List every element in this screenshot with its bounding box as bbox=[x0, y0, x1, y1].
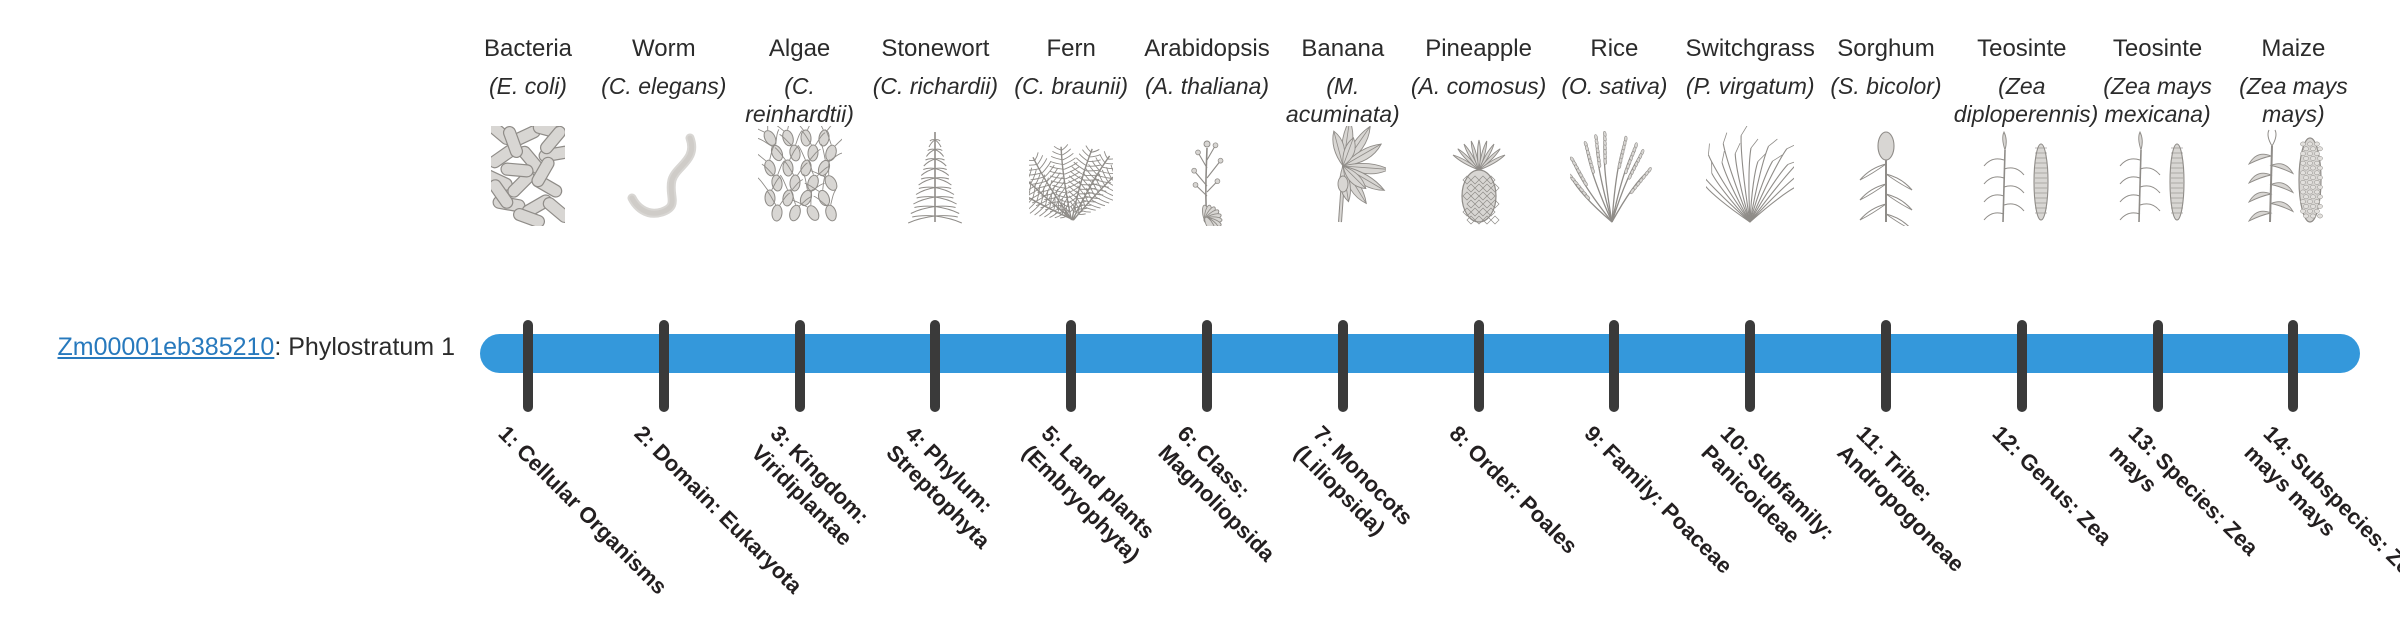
species-common-name: Fern bbox=[1003, 34, 1139, 64]
species-column-6: Arabidopsis(A. thaliana) bbox=[1139, 34, 1275, 226]
species-common-name: Algae bbox=[732, 34, 868, 64]
species-common-name: Worm bbox=[596, 34, 732, 64]
phylostratum-tick-12 bbox=[2017, 320, 2027, 412]
phylostratum-tick-3 bbox=[795, 320, 805, 412]
species-latin-name: (Zea diploperennis) bbox=[1954, 72, 2090, 128]
phylostratum-tick-14 bbox=[2288, 320, 2298, 412]
species-common-name: Rice bbox=[1546, 34, 1682, 64]
phylostratum-tick-7 bbox=[1338, 320, 1348, 412]
stonewort-icon bbox=[867, 134, 1003, 226]
phylostratum-tick-4 bbox=[930, 320, 940, 412]
maize-icon bbox=[2225, 134, 2361, 226]
phylostratum-taxon: Poales bbox=[1514, 491, 1582, 559]
species-latin-name: (P. virgatum) bbox=[1682, 72, 1818, 128]
fern-icon bbox=[1003, 134, 1139, 226]
species-latin-name: (O. sativa) bbox=[1546, 72, 1682, 128]
species-latin-name: (Zea mays mexicana) bbox=[2090, 72, 2226, 128]
species-common-name: Maize bbox=[2225, 34, 2361, 64]
rice-icon bbox=[1546, 134, 1682, 226]
species-column-8: Pineapple(A. comosus) bbox=[1411, 34, 1547, 226]
species-common-name: Stonewort bbox=[867, 34, 1003, 64]
phylostratum-rank: Family: bbox=[1598, 439, 1670, 511]
banana-icon bbox=[1275, 134, 1411, 226]
species-column-13: Teosinte(Zea mays mexicana) bbox=[2090, 34, 2226, 226]
phylostratum-taxon: Poaceae bbox=[1657, 498, 1738, 579]
phylostratum-tick-8 bbox=[1474, 320, 1484, 412]
gene-phylostratum-label: Zm00001eb385210: Phylostratum 1 bbox=[0, 332, 455, 362]
phylostratum-rank: Order: bbox=[1462, 439, 1527, 504]
phylostratum-taxon: Zea bbox=[2072, 505, 2116, 549]
gene-id-link[interactable]: Zm00001eb385210 bbox=[57, 333, 274, 361]
phylostratum-number: 12: bbox=[1987, 421, 2027, 461]
teosinte-icon bbox=[1954, 134, 2090, 226]
switchgrass-icon bbox=[1682, 134, 1818, 226]
species-latin-name: (M. acuminata) bbox=[1275, 72, 1411, 128]
sorghum-icon bbox=[1818, 134, 1954, 226]
species-common-name: Pineapple bbox=[1411, 34, 1547, 64]
algae-icon bbox=[732, 134, 868, 226]
phylostratum-tick-1 bbox=[523, 320, 533, 412]
worm-icon bbox=[596, 134, 732, 226]
arabidopsis-icon bbox=[1139, 134, 1275, 226]
phylostratigraphy-figure: Zm00001eb385210: Phylostratum 1 Bacteria… bbox=[0, 0, 2400, 580]
species-latin-name: (C. braunii) bbox=[1003, 72, 1139, 128]
species-latin-name: (C. richardii) bbox=[867, 72, 1003, 128]
phylostratum-taxon: Organisms bbox=[573, 500, 672, 599]
species-latin-name: (C. reinhardtii) bbox=[732, 72, 868, 128]
phylostratum-tick-9 bbox=[1609, 320, 1619, 412]
phylostratum-tick-13 bbox=[2153, 320, 2163, 412]
species-common-name: Switchgrass bbox=[1682, 34, 1818, 64]
species-column-9: Rice(O. sativa) bbox=[1546, 34, 1682, 226]
species-common-name: Teosinte bbox=[1954, 34, 2090, 64]
species-common-name: Sorghum bbox=[1818, 34, 1954, 64]
species-column-2: Worm(C. elegans) bbox=[596, 34, 732, 226]
species-column-1: Bacteria(E. coli) bbox=[460, 34, 596, 226]
species-column-10: Switchgrass(P. virgatum) bbox=[1682, 34, 1818, 226]
phylostratum-tick-5 bbox=[1066, 320, 1076, 412]
phylostratum-rank: Genus: bbox=[2014, 448, 2085, 519]
species-column-14: Maize(Zea mays mays) bbox=[2225, 34, 2361, 226]
pineapple-icon bbox=[1411, 134, 1547, 226]
teosinte-icon bbox=[2090, 134, 2226, 226]
gene-phylostratum-value: Phylostratum 1 bbox=[288, 333, 455, 361]
species-latin-name: (C. elegans) bbox=[596, 72, 732, 128]
species-latin-name: (A. thaliana) bbox=[1139, 72, 1275, 128]
species-column-4: Stonewort(C. richardii) bbox=[867, 34, 1003, 226]
phylostratum-taxon: Eukaryota bbox=[714, 505, 807, 598]
species-latin-name: (A. comosus) bbox=[1411, 72, 1547, 128]
phylostratum-rank: Species: bbox=[2150, 448, 2232, 530]
phylostratum-tick-11 bbox=[1881, 320, 1891, 412]
phylostratum-rank: Domain: bbox=[648, 439, 728, 519]
species-common-name: Teosinte bbox=[2090, 34, 2226, 64]
gene-label-separator: : bbox=[274, 333, 288, 361]
bacteria-icon bbox=[460, 134, 596, 226]
species-column-5: Fern(C. braunii) bbox=[1003, 34, 1139, 226]
species-latin-name: (Zea mays mays) bbox=[2225, 72, 2361, 128]
species-column-12: Teosinte(Zea diploperennis) bbox=[1954, 34, 2090, 226]
species-column-11: Sorghum(S. bicolor) bbox=[1818, 34, 1954, 226]
phylostratum-tick-2 bbox=[659, 320, 669, 412]
species-common-name: Bacteria bbox=[460, 34, 596, 64]
species-column-7: Banana(M. acuminata) bbox=[1275, 34, 1411, 226]
phylostratum-rank: Cellular bbox=[512, 439, 587, 514]
species-latin-name: (S. bicolor) bbox=[1818, 72, 1954, 128]
phylostratum-tick-10 bbox=[1745, 320, 1755, 412]
phylostratum-track-bar bbox=[480, 334, 2360, 373]
species-column-3: Algae(C. reinhardtii) bbox=[732, 34, 868, 226]
species-common-name: Arabidopsis bbox=[1139, 34, 1275, 64]
species-latin-name: (E. coli) bbox=[460, 72, 596, 128]
phylostratum-tick-6 bbox=[1202, 320, 1212, 412]
species-common-name: Banana bbox=[1275, 34, 1411, 64]
